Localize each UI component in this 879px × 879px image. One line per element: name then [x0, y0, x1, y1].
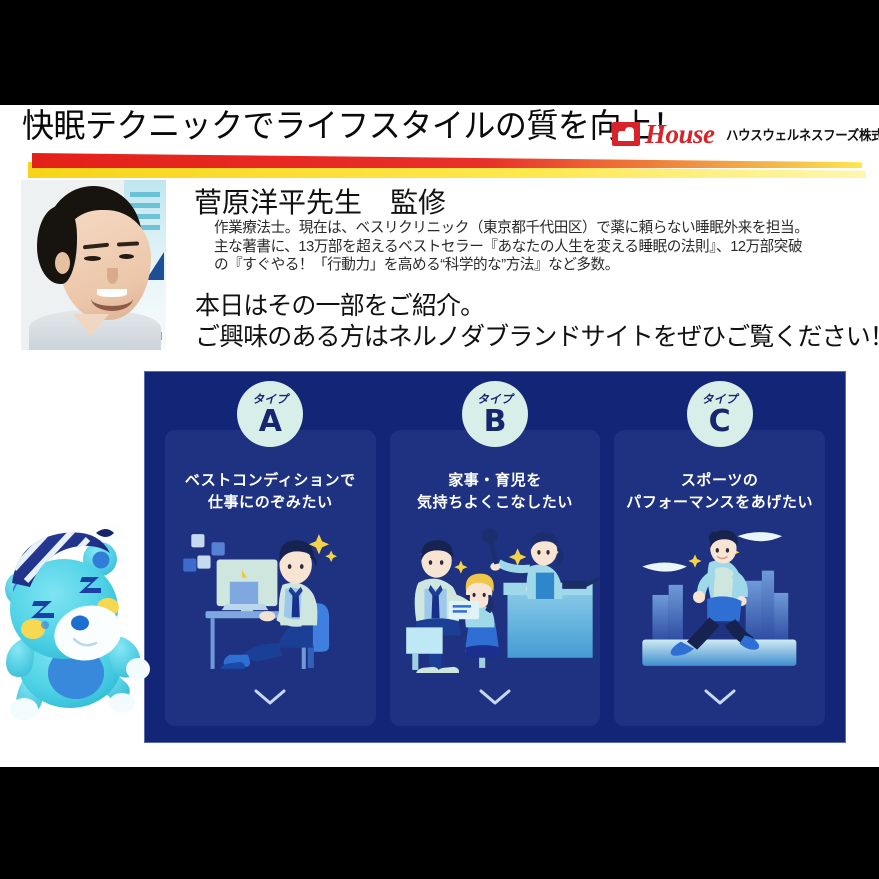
slide-canvas: 快眠テクニックでライフスタイルの質を向上！ House ハウスウェルネスフーズ株… — [0, 0, 879, 879]
house-brand-lockup: House ハウスウェルネスフーズ株式会社 — [612, 119, 879, 149]
portrait-eye-right — [119, 254, 134, 259]
bio-line-1: 作業療法士。現在は、ベスリクリニック（東京都千代田区）で薬に頼らない睡眠外来を担… — [214, 219, 874, 238]
slide-header: 快眠テクニックでライフスタイルの質を向上！ House ハウスウェルネスフーズ株… — [0, 105, 879, 185]
chevron-down-icon[interactable] — [703, 687, 737, 712]
type-card-c[interactable]: タイプ C スポーツの パフォーマンスをあげたい — [614, 430, 825, 726]
lead-line-1: 本日はその一部をご紹介。 — [195, 291, 879, 322]
supervisor-portrait-photo — [21, 180, 166, 350]
badge-letter: B — [484, 407, 507, 437]
portrait-nose — [107, 268, 118, 284]
illustration-businessman-at-desk — [165, 522, 376, 674]
portrait-smile — [91, 286, 133, 311]
chevron-down-icon[interactable] — [253, 687, 287, 712]
headline-line-2: 気持ちよくこなしたい — [417, 492, 573, 514]
type-selection-panel: タイプ A ベストコンディションで 仕事にのぞみたい — [144, 371, 846, 743]
illustration-runner-skyline — [614, 522, 825, 674]
type-card-c-headline: スポーツの パフォーマンスをあげたい — [626, 470, 813, 514]
headline-line-1: 家事・育児を — [417, 470, 573, 492]
house-logo-icon — [612, 122, 640, 146]
badge-letter: A — [259, 407, 282, 437]
headline-line-1: スポーツの — [626, 470, 813, 492]
type-card-a[interactable]: タイプ A ベストコンディションで 仕事にのぞみたい — [165, 430, 376, 726]
page-title: 快眠テクニックでライフスタイルの質を向上！ — [22, 105, 684, 149]
type-card-a-headline: ベストコンディションで 仕事にのぞみたい — [185, 470, 356, 514]
bio-line-2: 主な著書に、13万部を超えるベストセラー『あなたの人生を変える睡眠の法則』、12… — [214, 238, 874, 257]
portrait-eye-left — [84, 256, 101, 261]
headline-line-2: パフォーマンスをあげたい — [626, 492, 813, 514]
headline-line-2: 仕事にのぞみたい — [185, 492, 356, 514]
portrait-collar — [73, 314, 109, 336]
lead-line-2: ご興味のある方はネルノダブランドサイトをぜひご覧ください！ — [195, 322, 879, 353]
type-badge-c: タイプ C — [687, 381, 753, 447]
house-wordmark: House — [645, 121, 715, 148]
portrait-hair-side — [37, 206, 77, 284]
portrait-ear — [55, 252, 70, 274]
supervisor-name: 菅原洋平先生 監修 — [194, 181, 446, 221]
type-badge-a: タイプ A — [237, 381, 303, 447]
type-card-b-headline: 家事・育児を 気持ちよくこなしたい — [417, 470, 573, 514]
headline-line-1: ベストコンディションで — [185, 470, 356, 492]
type-badge-b: タイプ B — [462, 381, 528, 447]
supervisor-bio: 作業療法士。現在は、ベスリクリニック（東京都千代田区）で薬に頼らない睡眠外来を担… — [214, 219, 874, 275]
mascot-sleeping-bear — [0, 517, 164, 735]
chevron-down-icon[interactable] — [478, 687, 512, 712]
badge-letter: C — [709, 407, 731, 437]
slide-white-page: 快眠テクニックでライフスタイルの質を向上！ House ハウスウェルネスフーズ株… — [0, 105, 879, 767]
type-card-list: タイプ A ベストコンディションで 仕事にのぞみたい — [145, 372, 845, 742]
illustration-family-kitchen — [390, 522, 601, 674]
bio-line-3: の『すぐやる！「行動力」を高める“科学的な”方法』など多数。 — [214, 256, 874, 275]
type-card-b[interactable]: タイプ B 家事・育児を 気持ちよくこなしたい — [390, 430, 601, 726]
accent-rule-red — [32, 153, 862, 168]
brand-company-name: ハウスウェルネスフーズ株式会社 — [726, 124, 879, 144]
lead-paragraph: 本日はその一部をご紹介。 ご興味のある方はネルノダブランドサイトをぜひご覧くださ… — [195, 291, 879, 353]
